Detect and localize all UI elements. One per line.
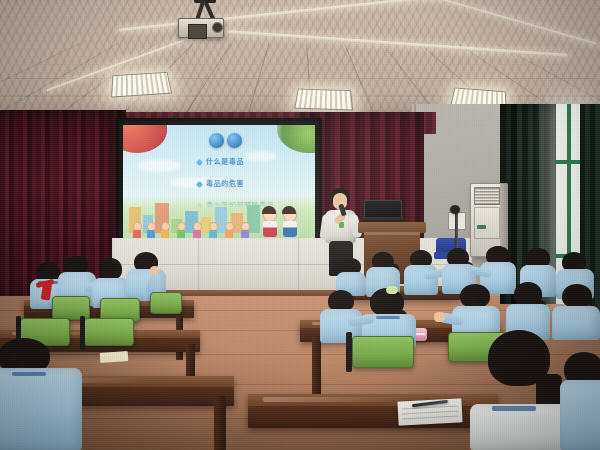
laptop[interactable] xyxy=(362,200,404,224)
student-chair xyxy=(352,336,414,368)
slide-cartoon-kid xyxy=(177,222,186,239)
ceiling-light-panel-center xyxy=(294,89,353,111)
projector-icon xyxy=(172,2,226,42)
slide-bullet-2-text: 毒品的危害 xyxy=(206,179,244,189)
projector-vent xyxy=(188,24,207,39)
slide-badge-2 xyxy=(227,133,242,148)
chair-frame xyxy=(346,332,352,372)
ac-logo xyxy=(477,225,486,229)
ac-panel xyxy=(474,207,500,239)
slide-cartoon-boy xyxy=(283,208,297,237)
student-chair xyxy=(150,292,182,314)
stage-tile-seam xyxy=(298,238,299,294)
projector-lens xyxy=(212,22,223,33)
slide-cartoon-kid xyxy=(209,222,218,239)
hair-bow xyxy=(386,286,398,294)
slide-cloud-1 xyxy=(137,159,181,172)
slide-leaf-decoration xyxy=(277,125,315,153)
slide-cartoon-girl xyxy=(263,208,277,237)
slide-balloon-decoration xyxy=(123,125,167,153)
presentation-slide: 什么是毒品 毒品的危害 青少年如何预防毒品 xyxy=(123,125,315,241)
stage-tile-seam xyxy=(198,238,199,294)
slide-bullet-2: 毒品的危害 xyxy=(197,179,244,189)
slide-cartoon-kid xyxy=(225,222,234,239)
student xyxy=(0,338,82,450)
podium-edge xyxy=(364,232,420,235)
ceiling-light-panel-left xyxy=(111,72,172,98)
slide-bullet-marker xyxy=(196,180,203,187)
slide-cartoon-kid xyxy=(147,222,156,239)
paper-sheet xyxy=(100,351,129,363)
slide-bullet-1-text: 什么是毒品 xyxy=(206,157,244,167)
slide-cloud-3 xyxy=(243,151,277,161)
slide-cartoon-kid xyxy=(241,222,250,239)
student xyxy=(560,352,600,450)
photograph-scene: 什么是毒品 毒品的危害 青少年如何预防毒品 xyxy=(0,0,600,450)
microphone-icon xyxy=(450,205,460,214)
student-chair xyxy=(84,318,134,346)
ac-grille xyxy=(474,187,500,205)
projection-screen: 什么是毒品 毒品的危害 青少年如何预防毒品 xyxy=(116,118,322,248)
desk-leg xyxy=(214,396,226,450)
slide-bullet-marker xyxy=(196,158,203,165)
slide-cartoon-kid xyxy=(193,222,202,239)
slide-heading-badges xyxy=(209,133,242,148)
slide-badge-1 xyxy=(209,133,224,148)
slide-bullet-1: 什么是毒品 xyxy=(197,157,244,167)
slide-cartoon-kid xyxy=(133,222,142,239)
slide-city-artwork xyxy=(123,195,315,241)
slide-cartoon-kid xyxy=(161,222,170,239)
